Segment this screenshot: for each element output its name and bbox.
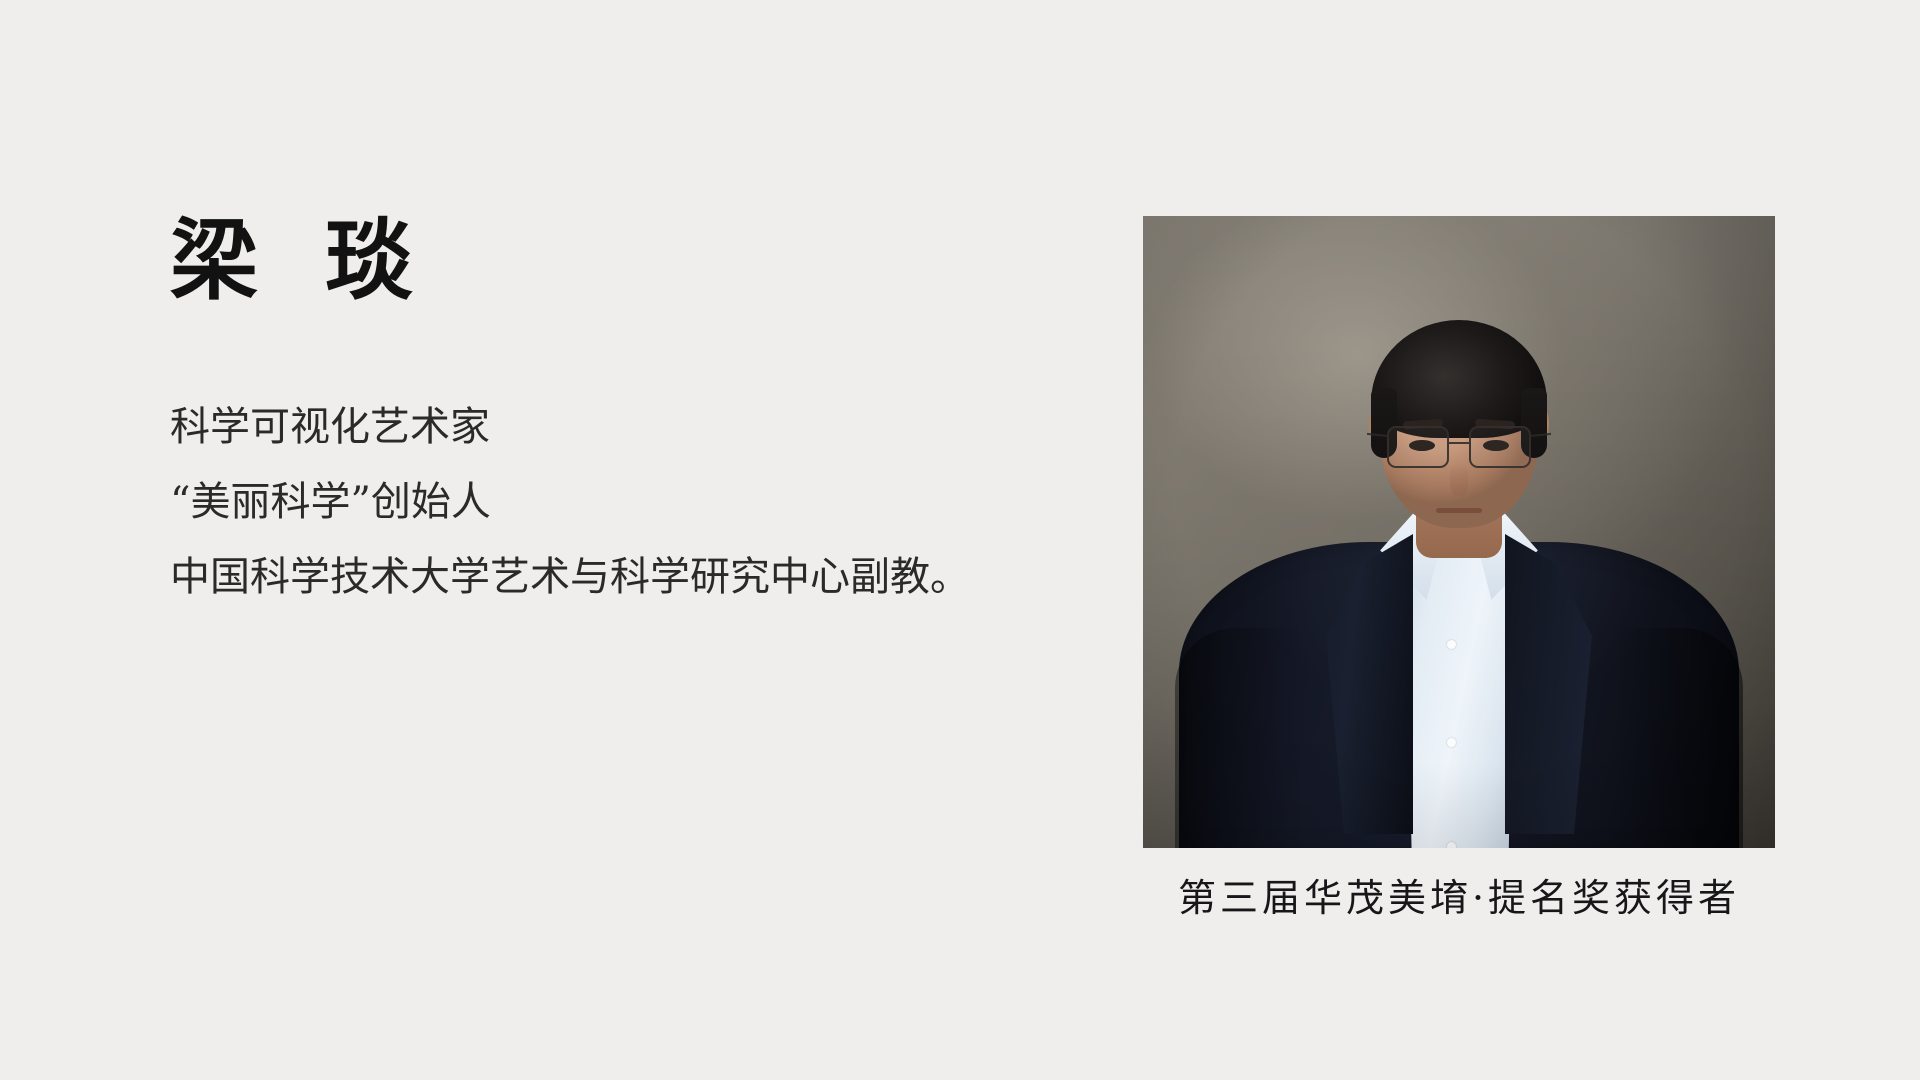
portrait-image bbox=[1143, 216, 1775, 848]
mouth bbox=[1436, 508, 1482, 513]
award-caption: 第三届华茂美堉·提名奖获得者 bbox=[1143, 876, 1775, 922]
eyeglasses bbox=[1143, 216, 1775, 848]
role-line-2: “美丽科学”创始人 bbox=[170, 465, 1070, 540]
profile-text-column: 梁 琰 科学可视化艺术家 “美丽科学”创始人 中国科学技术大学艺术与科学研究中心… bbox=[170, 216, 1070, 615]
glasses-temple-left bbox=[1367, 433, 1389, 437]
person-figure bbox=[1143, 216, 1775, 848]
glasses-rim-right bbox=[1469, 426, 1531, 468]
role-list: 科学可视化艺术家 “美丽科学”创始人 中国科学技术大学艺术与科学研究中心副教。 bbox=[170, 390, 1070, 615]
portrait-photo bbox=[1143, 216, 1775, 848]
nose bbox=[1450, 462, 1468, 496]
glasses-bridge bbox=[1449, 442, 1469, 444]
role-line-1: 科学可视化艺术家 bbox=[170, 390, 1070, 465]
glasses-rim-left bbox=[1387, 426, 1449, 468]
page-title: 梁 琰 bbox=[170, 216, 1070, 304]
glasses-temple-right bbox=[1529, 433, 1551, 437]
role-line-3: 中国科学技术大学艺术与科学研究中心副教。 bbox=[170, 540, 1070, 615]
